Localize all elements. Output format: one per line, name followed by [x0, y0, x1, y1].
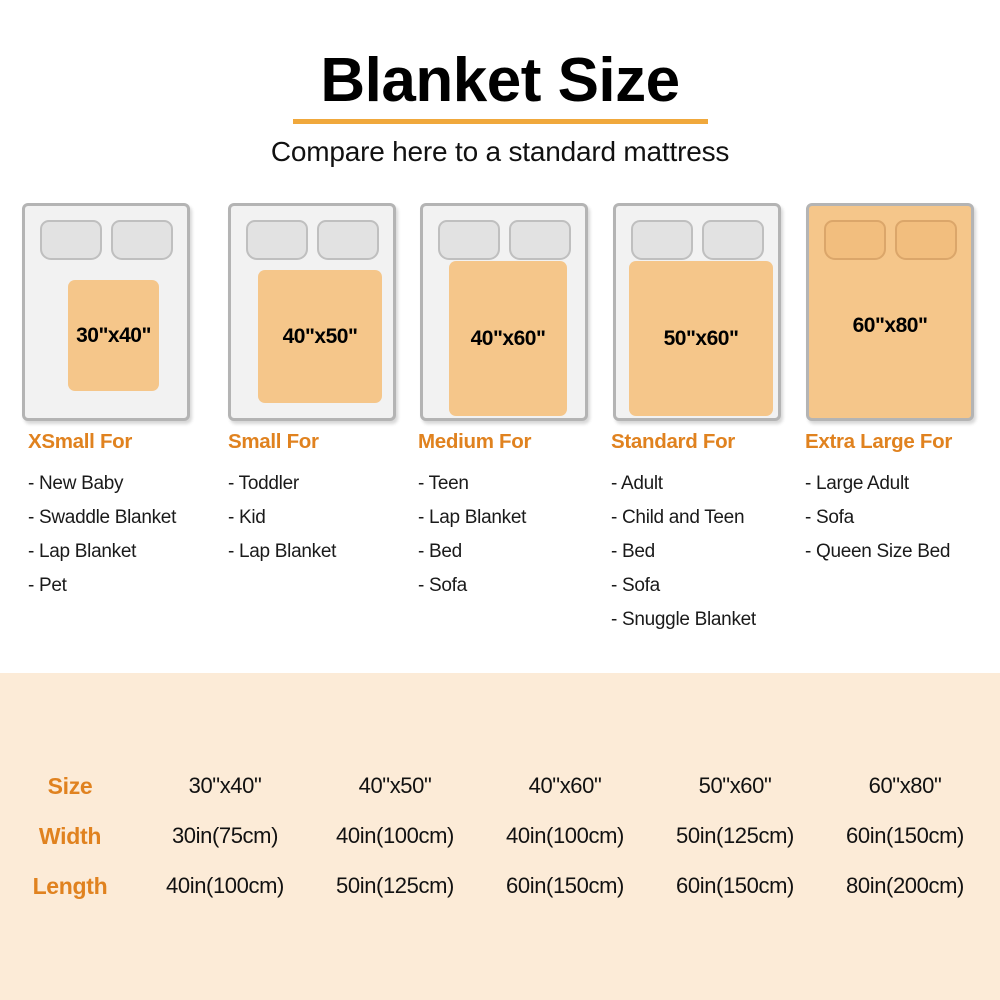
table-cell: 50in(125cm): [310, 873, 480, 899]
list-item: - New Baby: [28, 467, 243, 501]
table-cell: 50"x60": [650, 773, 820, 799]
page-subtitle: Compare here to a standard mattress: [0, 136, 1000, 168]
list-item: - Queen Size Bed: [805, 535, 1000, 569]
list-item: - Swaddle Blanket: [28, 501, 243, 535]
category-list-row: XSmall For - New Baby - Swaddle Blanket …: [0, 430, 1000, 660]
table-cell: 40in(100cm): [140, 873, 310, 899]
pillow-icon: [317, 220, 379, 260]
pillow-icon: [824, 220, 886, 260]
table-cell: 50in(125cm): [650, 823, 820, 849]
list-item: - Lap Blanket: [228, 535, 443, 569]
bed-diagram-extra-large: 60"x80": [806, 203, 974, 421]
category-column-extra-large: Extra Large For - Large Adult - Sofa - Q…: [805, 430, 1000, 569]
table-cell: 80in(200cm): [820, 873, 990, 899]
category-heading: Medium For: [418, 430, 633, 454]
page-title: Blanket Size: [320, 48, 679, 117]
table-row: Size 30"x40" 40"x50" 40"x60" 50"x60" 60"…: [0, 761, 1000, 811]
pillow-icon: [509, 220, 571, 260]
list-item: - Sofa: [805, 501, 1000, 535]
category-heading: Small For: [228, 430, 443, 454]
bed-diagram-row: 30"x40" 40"x50" 40"x60": [0, 203, 1000, 421]
pillow-icon: [895, 220, 957, 260]
bed-diagram-standard: 50"x60": [613, 203, 781, 421]
table-cell: 60in(150cm): [820, 823, 990, 849]
pillow-icon: [40, 220, 102, 260]
blanket-swatch: 40"x50": [258, 270, 382, 403]
pillow-icon: [631, 220, 693, 260]
list-item: - Sofa: [611, 569, 826, 603]
category-column-standard: Standard For - Adult - Child and Teen - …: [611, 430, 826, 637]
row-header-width: Width: [0, 823, 140, 850]
list-item: - Pet: [28, 569, 243, 603]
blanket-swatch: 40"x60": [449, 261, 567, 416]
list-item: - Snuggle Blanket: [611, 603, 826, 637]
title-underline-rule: [293, 119, 708, 124]
mattress: 30"x40": [22, 203, 190, 421]
bed-diagram-medium: 40"x60": [420, 203, 588, 421]
pillow-icon: [111, 220, 173, 260]
bed-diagram-xsmall: 30"x40": [22, 203, 190, 421]
mattress: 50"x60": [613, 203, 781, 421]
list-item: - Kid: [228, 501, 443, 535]
bed-diagram-small: 40"x50": [228, 203, 396, 421]
spec-table: Size 30"x40" 40"x50" 40"x60" 50"x60" 60"…: [0, 761, 1000, 911]
category-column-small: Small For - Toddler - Kid - Lap Blanket: [228, 430, 443, 569]
blanket-swatch: 30"x40": [68, 280, 159, 391]
blanket-size-label: 60"x80": [809, 314, 971, 338]
pillow-icon: [246, 220, 308, 260]
row-header-length: Length: [0, 873, 140, 900]
table-cell: 30in(75cm): [140, 823, 310, 849]
list-item: - Sofa: [418, 569, 633, 603]
list-item: - Teen: [418, 467, 633, 501]
list-item: - Bed: [611, 535, 826, 569]
list-item: - Adult: [611, 467, 826, 501]
list-item: - Lap Blanket: [418, 501, 633, 535]
blanket-swatch: 50"x60": [629, 261, 773, 416]
category-heading: Extra Large For: [805, 430, 1000, 454]
category-column-xsmall: XSmall For - New Baby - Swaddle Blanket …: [28, 430, 243, 603]
pillow-icon: [438, 220, 500, 260]
mattress: 60"x80": [806, 203, 974, 421]
list-item: - Bed: [418, 535, 633, 569]
list-item: - Child and Teen: [611, 501, 826, 535]
list-item: - Lap Blanket: [28, 535, 243, 569]
table-cell: 40"x50": [310, 773, 480, 799]
blanket-size-label: 40"x60": [471, 327, 546, 351]
table-cell: 60"x80": [820, 773, 990, 799]
header: Blanket Size Compare here to a standard …: [0, 48, 1000, 168]
mattress: 40"x50": [228, 203, 396, 421]
table-row: Width 30in(75cm) 40in(100cm) 40in(100cm)…: [0, 811, 1000, 861]
table-cell: 40in(100cm): [310, 823, 480, 849]
mattress: 40"x60": [420, 203, 588, 421]
infographic-page: Blanket Size Compare here to a standard …: [0, 0, 1000, 1000]
blanket-size-label: 40"x50": [283, 325, 358, 349]
list-item: - Toddler: [228, 467, 443, 501]
table-cell: 40"x60": [480, 773, 650, 799]
category-column-medium: Medium For - Teen - Lap Blanket - Bed - …: [418, 430, 633, 603]
blanket-size-label: 50"x60": [664, 327, 739, 351]
spec-panel: Size 30"x40" 40"x50" 40"x60" 50"x60" 60"…: [0, 673, 1000, 1000]
category-heading: XSmall For: [28, 430, 243, 454]
list-item: - Large Adult: [805, 467, 1000, 501]
table-cell: 60in(150cm): [650, 873, 820, 899]
table-cell: 60in(150cm): [480, 873, 650, 899]
category-heading: Standard For: [611, 430, 826, 454]
pillow-icon: [702, 220, 764, 260]
blanket-size-label: 30"x40": [76, 324, 151, 348]
table-cell: 30"x40": [140, 773, 310, 799]
table-cell: 40in(100cm): [480, 823, 650, 849]
row-header-size: Size: [0, 773, 140, 800]
table-row: Length 40in(100cm) 50in(125cm) 60in(150c…: [0, 861, 1000, 911]
